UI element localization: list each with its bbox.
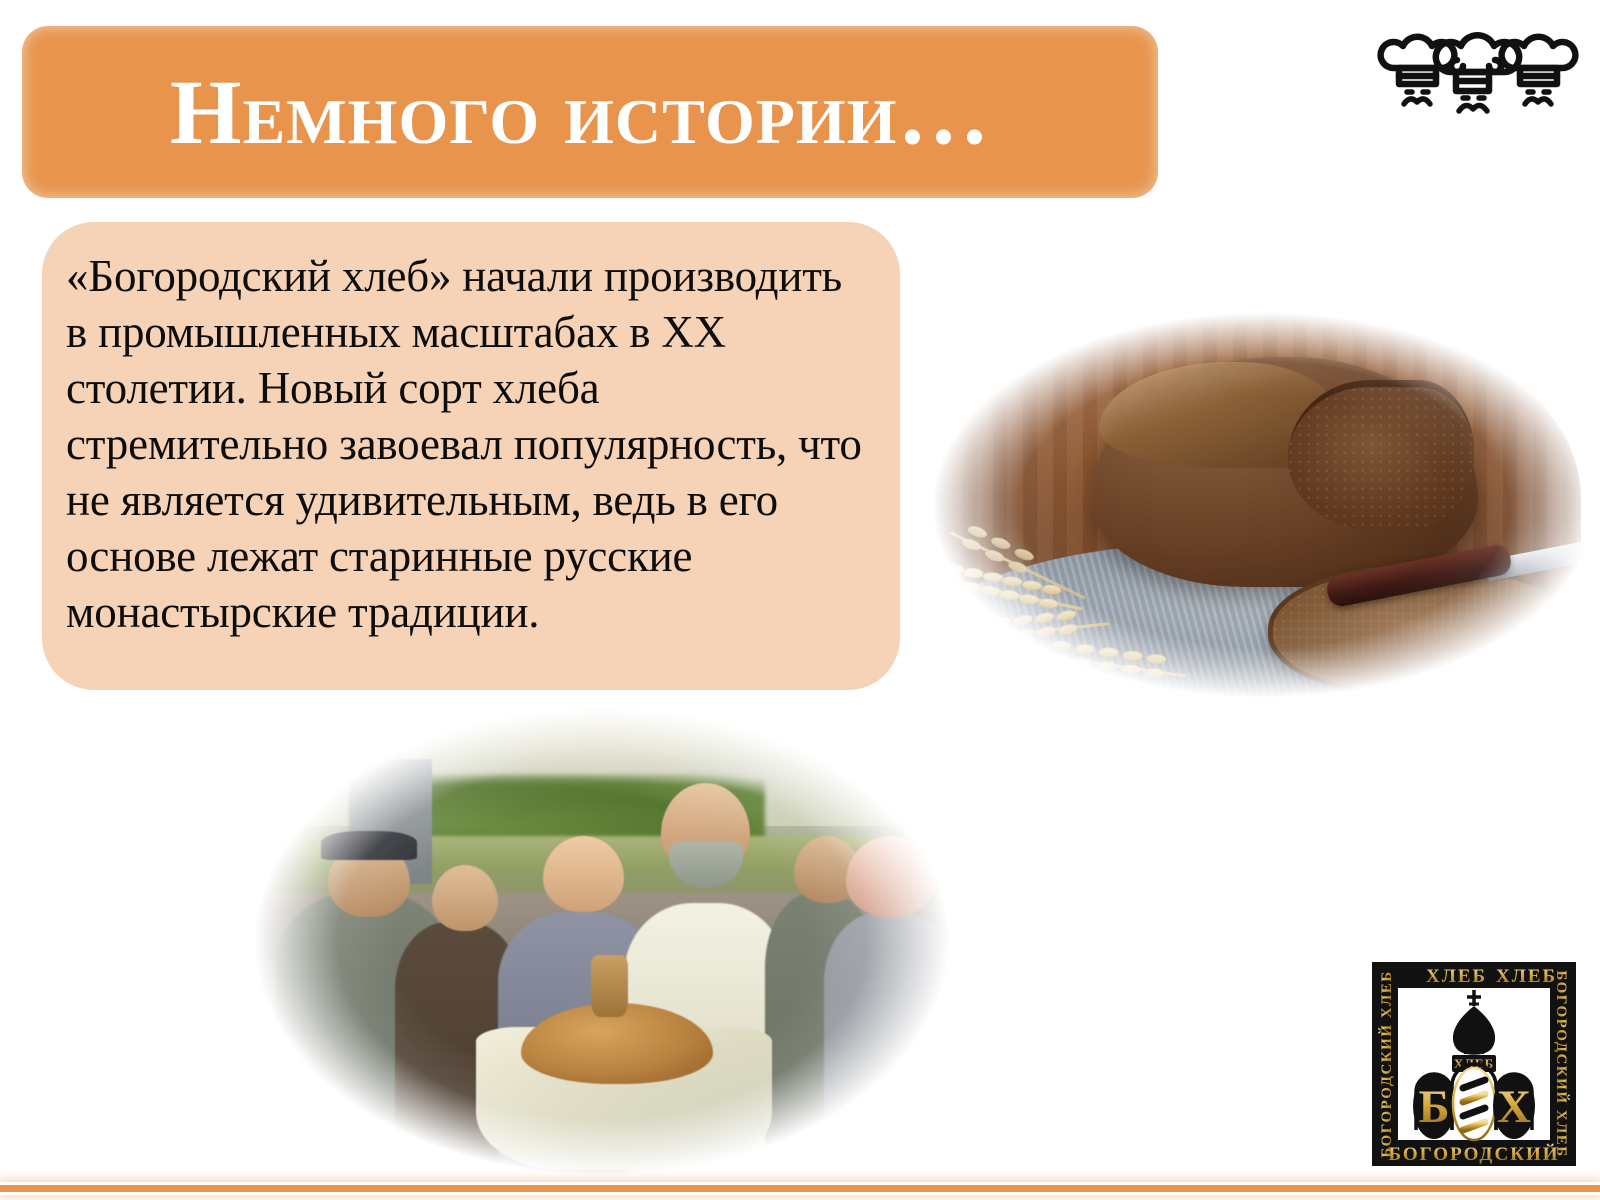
logo-monogram-left: Б (1418, 1081, 1449, 1133)
bottom-accent-rule (0, 1185, 1600, 1192)
logo-border-bottom: БОГОРОДСКИЙ (1388, 1143, 1559, 1165)
painting-figure-right-front (824, 912, 957, 1180)
three-chef-hats-logo (1374, 24, 1580, 116)
bread-and-salt-painting-inner (232, 702, 972, 1180)
body-text-card: «Богородский хлеб» начали производить в … (42, 222, 900, 690)
chef-mustache-middle (1459, 98, 1487, 111)
rye-bread-photo-inner (905, 300, 1595, 710)
page-title: Немного истории… (170, 66, 990, 158)
chef-mustache-left (1404, 92, 1430, 104)
rye-bread-photo (905, 300, 1595, 710)
painting-salt-cellar (591, 955, 628, 1017)
chef-mustache-right (1525, 92, 1551, 104)
chef-hat-right (1502, 37, 1576, 84)
logo-border-top-left: ХЛЕБ (1426, 966, 1487, 987)
bogorodsky-bread-logo: ХЛЕБ ХЛЕБ БОГОРОДСКИЙ БОГОРОДСКИЙ ХЛЕБ Б… (1368, 958, 1580, 1170)
bread-and-salt-painting (232, 702, 972, 1180)
slide-title-bar: Немного истории… (22, 26, 1158, 198)
bread-loaf (1091, 357, 1477, 587)
logo-border-right: БОГОРОДСКИЙ ХЛЕБ (1553, 970, 1570, 1157)
painting-head-woman-center (543, 836, 624, 912)
logo-border-left: БОГОРОДСКИЙ ХЛЕБ (1378, 970, 1395, 1157)
painting-head-right-front (846, 836, 935, 917)
logo-border-top-right: ХЛЕБ (1496, 966, 1557, 987)
loaf-cut-face (1288, 380, 1473, 529)
body-paragraph: «Богородский хлеб» начали производить в … (66, 248, 870, 640)
logo-monogram-right: Х (1497, 1081, 1531, 1133)
painting-cap-man-left (321, 831, 417, 860)
slide-canvas: Немного истории… «Богородский хлеб» нача… (0, 0, 1600, 1200)
